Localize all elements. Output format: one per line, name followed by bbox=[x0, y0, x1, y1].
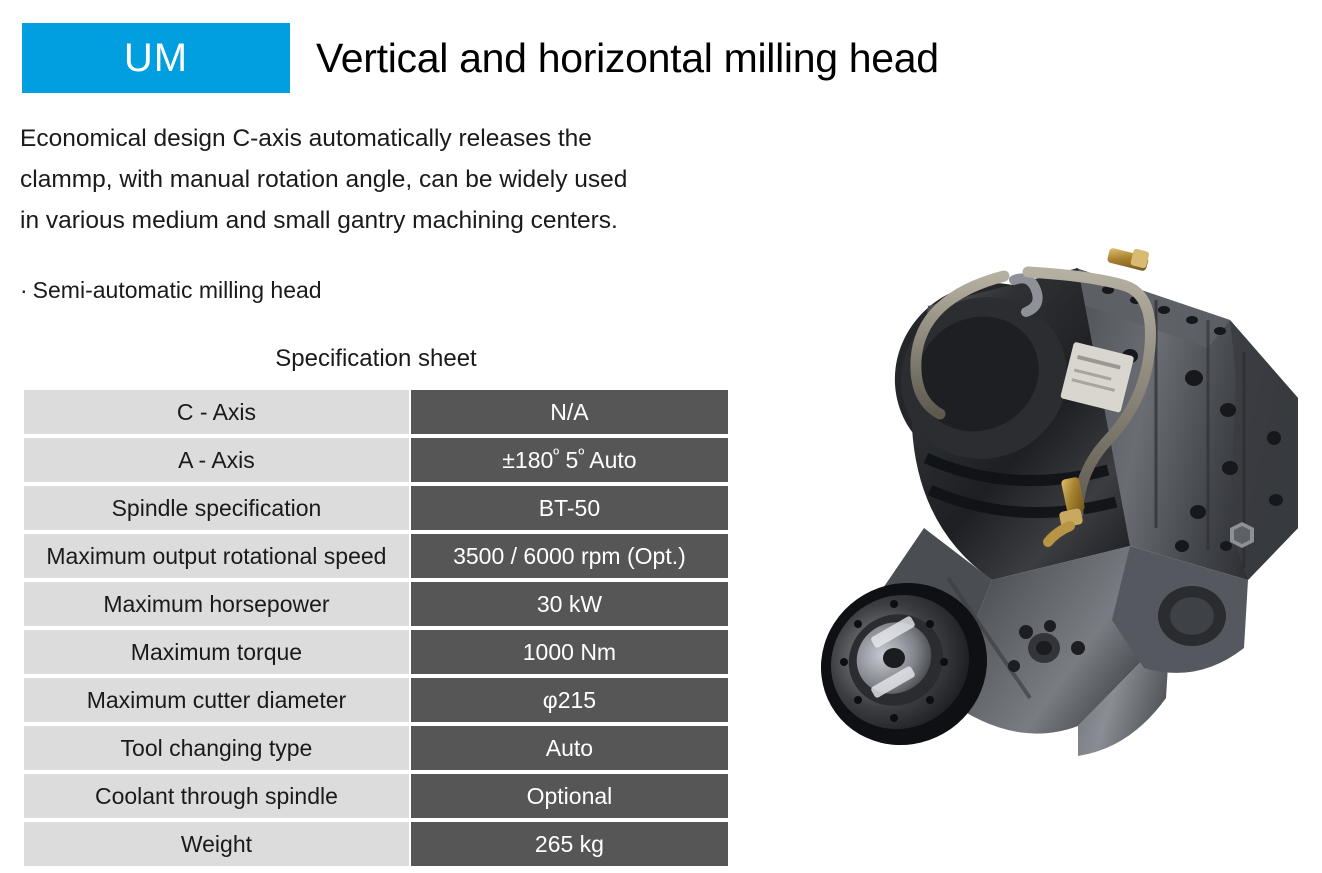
spec-value-text: ±180 bbox=[502, 447, 553, 473]
nose-center-bore bbox=[1036, 641, 1052, 655]
spec-table-row: Weight265 kg bbox=[24, 822, 728, 866]
specification-table: C - AxisN/AA - Axis±180º 5º AutoSpindle … bbox=[22, 386, 730, 870]
product-spec-page: UM Vertical and horizontal milling head … bbox=[0, 0, 1322, 873]
spec-value-text: 5 bbox=[559, 447, 578, 473]
spec-label-cell: A - Axis bbox=[24, 438, 409, 482]
product-description: Economical design C-axis automatically r… bbox=[20, 118, 750, 241]
spec-table-row: Spindle specificationBT-50 bbox=[24, 486, 728, 530]
gearbox-port-inner bbox=[1170, 597, 1214, 635]
spec-table-row: Maximum cutter diameterφ215 bbox=[24, 678, 728, 722]
feature-bullet-item: ·Semi-automatic milling head bbox=[20, 277, 322, 304]
spec-value-cell: Optional bbox=[411, 774, 728, 818]
milling-head-illustration bbox=[778, 228, 1322, 773]
spec-table-row: Maximum output rotational speed3500 / 60… bbox=[24, 534, 728, 578]
spec-value-cell: BT-50 bbox=[411, 486, 728, 530]
spec-label-cell: Tool changing type bbox=[24, 726, 409, 770]
spec-table-title: Specification sheet bbox=[22, 345, 730, 373]
bullet-dot-icon: · bbox=[20, 277, 28, 303]
spec-value-text: Auto bbox=[584, 447, 636, 473]
spec-value-cell: 3500 / 6000 rpm (Opt.) bbox=[411, 534, 728, 578]
spec-label-cell: Spindle specification bbox=[24, 486, 409, 530]
spec-value-cell: Auto bbox=[411, 726, 728, 770]
spec-table-row: Maximum torque1000 Nm bbox=[24, 630, 728, 674]
spec-label-cell: Maximum torque bbox=[24, 630, 409, 674]
feature-bullet-label: Semi-automatic milling head bbox=[33, 277, 322, 303]
spec-value-cell: φ215 bbox=[411, 678, 728, 722]
spec-table-row: A - Axis±180º 5º Auto bbox=[24, 438, 728, 482]
spec-label-cell: Maximum horsepower bbox=[24, 582, 409, 626]
model-code-label: UM bbox=[124, 36, 188, 81]
description-line-3: in various medium and small gantry machi… bbox=[20, 200, 750, 241]
spec-table-row: C - AxisN/A bbox=[24, 390, 728, 434]
spec-value-cell: ±180º 5º Auto bbox=[411, 438, 728, 482]
page-title: Vertical and horizontal milling head bbox=[316, 35, 939, 82]
model-code-badge: UM bbox=[22, 23, 290, 93]
spec-label-cell: Maximum cutter diameter bbox=[24, 678, 409, 722]
spec-table-row: Coolant through spindleOptional bbox=[24, 774, 728, 818]
spec-value-cell: 30 kW bbox=[411, 582, 728, 626]
spec-label-cell: Coolant through spindle bbox=[24, 774, 409, 818]
description-line-2: clammp, with manual rotation angle, can … bbox=[20, 159, 750, 200]
page-header: UM Vertical and horizontal milling head bbox=[22, 23, 939, 93]
spec-label-cell: Maximum output rotational speed bbox=[24, 534, 409, 578]
spec-value-cell: 1000 Nm bbox=[411, 630, 728, 674]
spec-label-cell: Weight bbox=[24, 822, 409, 866]
spindle-bore bbox=[883, 648, 905, 668]
spec-value-cell: N/A bbox=[411, 390, 728, 434]
specification-table-body: C - AxisN/AA - Axis±180º 5º AutoSpindle … bbox=[24, 390, 728, 866]
description-line-1: Economical design C-axis automatically r… bbox=[20, 118, 750, 159]
brass-fitting-top bbox=[1107, 247, 1150, 271]
spec-table-row: Tool changing typeAuto bbox=[24, 726, 728, 770]
spec-label-cell: C - Axis bbox=[24, 390, 409, 434]
product-photo bbox=[778, 228, 1322, 773]
spec-value-cell: 265 kg bbox=[411, 822, 728, 866]
spec-table-row: Maximum horsepower30 kW bbox=[24, 582, 728, 626]
